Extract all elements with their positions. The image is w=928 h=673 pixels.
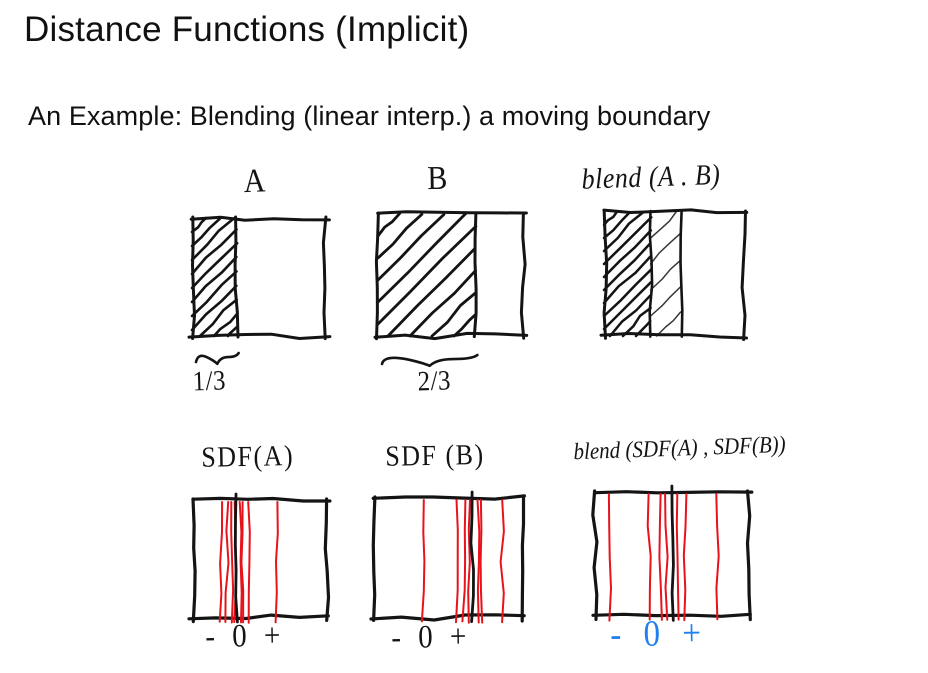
- sign-legend-b: - 0 +: [391, 619, 472, 657]
- page-title: Distance Functions (Implicit): [24, 10, 469, 50]
- shape-b-drawing: [375, 212, 527, 339]
- slide-canvas: Distance Functions (Implicit) An Example…: [0, 0, 928, 673]
- shape-a-label: A: [243, 162, 267, 201]
- sdf-blend-drawing: [593, 486, 752, 621]
- sdf-blend-label: blend (SDF(A) , SDF(B)): [573, 431, 786, 466]
- sdf-b-label: SDF (B): [385, 438, 485, 473]
- shape-blend-label: blend (A . B): [581, 158, 721, 196]
- sdf-a-label: SDF(A): [201, 439, 294, 474]
- shape-a-drawing: [189, 217, 330, 339]
- sign-legend-a: - 0 +: [205, 618, 286, 656]
- slide-subtitle: An Example: Blending (linear interp.) a …: [28, 101, 710, 132]
- brace-b: [382, 355, 477, 366]
- brace-a: [196, 353, 239, 364]
- sdf-a-drawing: [189, 494, 330, 623]
- shape-b-label: B: [427, 160, 449, 198]
- sign-legend-blend: - 0 +: [610, 613, 708, 656]
- brace-a-label: 1/3: [192, 366, 227, 399]
- sdf-b-drawing: [371, 492, 524, 623]
- brace-b-label: 2/3: [417, 366, 452, 399]
- shape-blend-drawing: [601, 210, 747, 340]
